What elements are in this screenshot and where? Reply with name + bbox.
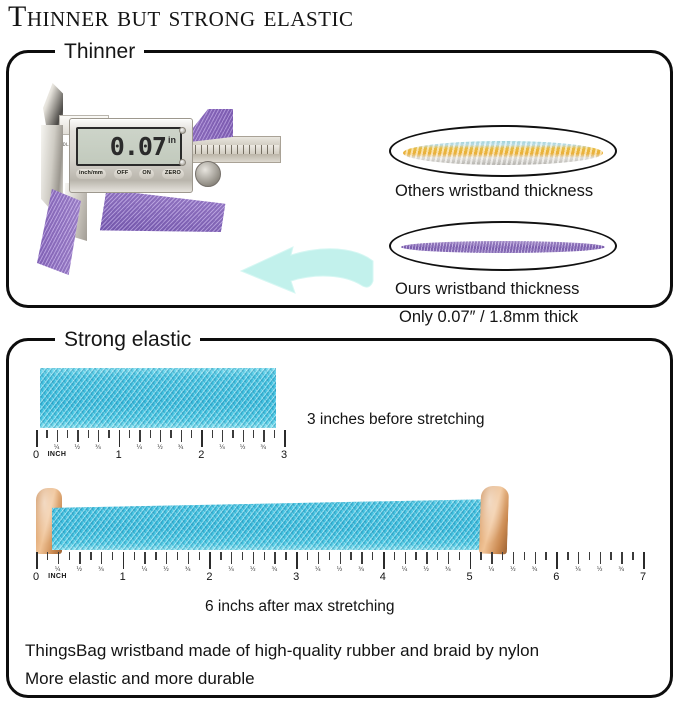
ruler-label-fraction: ½ (250, 566, 256, 573)
ruler-label-fraction: ¾ (532, 566, 538, 573)
ruler-tick-sub (405, 552, 406, 564)
ruler-label-fraction: ½ (240, 444, 246, 451)
ruler-label-fraction: ½ (423, 566, 429, 573)
caliper-button-on[interactable]: ON (139, 169, 154, 179)
ruler-tick-sub (535, 552, 536, 564)
ruler-tick-inch (36, 430, 38, 447)
ruler-tick-sub (98, 430, 99, 442)
ruler-tick-sub (188, 552, 189, 564)
ruler-label-inch: 0 (33, 449, 39, 461)
ruler-tick-sub (101, 552, 102, 564)
ruler-tick-sub (112, 552, 113, 560)
ruler-tick-sub (150, 430, 151, 438)
unstretched-band (40, 368, 276, 428)
ruler-tick-sub (491, 552, 492, 564)
ruler-tick-sub (166, 552, 167, 564)
ruler-label-fraction: ¾ (618, 566, 624, 573)
ruler-tick-sub (232, 430, 233, 438)
caliper-screw-top-icon (179, 127, 186, 134)
ruler-tick-sub (318, 552, 319, 564)
ruler-tick-sub (90, 552, 91, 560)
ruler-tick-sub (513, 552, 514, 564)
ruler-tick-sub (524, 552, 525, 560)
ours-thickness-detail: Only 0.07″ / 1.8mm thick (399, 305, 578, 329)
ruler-short: 0¼½¾1¼½¾2¼½¾3INCH (36, 430, 284, 464)
ruler-tick-sub (79, 552, 80, 564)
ruler-tick-sub (448, 552, 449, 564)
ruler-label-fraction: ¾ (185, 566, 191, 573)
ruler-label-fraction: ½ (74, 444, 80, 451)
ruler-tick-sub (199, 552, 200, 560)
ruler-label-fraction: ½ (163, 566, 169, 573)
ruler-tick-sub (242, 552, 243, 560)
ruler-label-fraction: ¼ (141, 566, 147, 573)
ruler-tick-sub (274, 430, 275, 438)
ruler-label-fraction: ¼ (402, 566, 408, 573)
ruler-tick-sub (191, 430, 192, 438)
ruler-tick-sub (372, 552, 373, 560)
purple-strap-middle (100, 185, 226, 249)
caliper-screw-bottom-icon (179, 159, 186, 166)
ruler-label-fraction: ½ (337, 566, 343, 573)
ruler-tick-sub (263, 430, 264, 442)
ruler-label-inch: 1 (116, 449, 122, 461)
ruler-tick-inch (643, 552, 645, 569)
ruler-tick-sub (129, 430, 130, 438)
ruler-label-inch: 3 (293, 571, 299, 583)
ruler-tick-sub (480, 552, 481, 560)
ruler-label-fraction: ½ (597, 566, 603, 573)
caliper-unit: in (168, 135, 176, 145)
ruler-tick-sub (220, 552, 221, 560)
ruler-tick-sub (567, 552, 568, 560)
ruler-tick-sub (177, 552, 178, 560)
ruler-tick-sub (621, 552, 622, 564)
ruler-label-inch: 0 (33, 571, 39, 583)
ruler-tick-sub (578, 552, 579, 564)
ruler-label-fraction: ¼ (54, 444, 60, 451)
panel-thinner: Thinner DL505/35 0.07 in inch/mm OFF ON … (6, 50, 673, 308)
ruler-tick-sub (340, 552, 341, 564)
ruler-label-inch: 2 (198, 449, 204, 461)
ruler-label-inch: 5 (467, 571, 473, 583)
ruler-tick-sub (545, 552, 546, 560)
ruler-label-inch: 4 (380, 571, 386, 583)
caliper-button-inchmm[interactable]: inch/mm (76, 169, 106, 179)
ruler-tick-sub (222, 430, 223, 442)
panel-strong-legend: Strong elastic (55, 326, 200, 354)
ruler-tick-inch (119, 430, 121, 447)
purple-strap-bottom (37, 189, 81, 275)
ruler-label-fraction: ¾ (95, 444, 101, 451)
ours-thickness-caption: Ours wristband thickness (395, 277, 579, 301)
ruler-tick-sub (329, 552, 330, 560)
ruler-tick-sub (77, 430, 78, 442)
ruler-tick-sub (632, 552, 633, 560)
ruler-long: 0¼½¾1¼½¾2¼½¾3¼½¾4¼½¾5¼½¾6¼½¾7INCH (36, 552, 644, 586)
caliper-reading: 0.07 (110, 134, 166, 159)
ruler-tick-inch (296, 552, 298, 569)
ruler-tick-sub (502, 552, 503, 560)
ruler-tick-sub (243, 430, 244, 442)
ruler-tick-inch (383, 552, 385, 569)
ruler-tick-sub (69, 552, 70, 560)
ruler-label-fraction: ¼ (575, 566, 581, 573)
caliper-button-zero[interactable]: ZERO (162, 169, 184, 179)
caliper-button-off[interactable]: OFF (114, 169, 132, 179)
caliper-display: 0.07 in (76, 127, 182, 166)
ours-band-cross-section (401, 241, 605, 253)
caliper-button-row: inch/mm OFF ON ZERO (76, 168, 184, 180)
ruler-label-inch: 3 (281, 449, 287, 461)
ruler-tick-sub (610, 552, 611, 560)
left-arrow-icon (205, 245, 375, 311)
ruler-tick-sub (47, 552, 48, 560)
ruler-label-fraction: ¾ (178, 444, 184, 451)
ruler-tick-sub (155, 552, 156, 560)
ruler-label-fraction: ¼ (219, 444, 225, 451)
footer-line-2: More elastic and more durable (25, 668, 255, 690)
ruler-tick-sub (67, 430, 68, 438)
ruler-label-fraction: ¾ (445, 566, 451, 573)
ruler-tick-sub (459, 552, 460, 560)
ruler-tick-sub (88, 430, 89, 438)
ruler-label-inch: 1 (120, 571, 126, 583)
footer-line-1: ThingsBag wristband made of high-quality… (25, 640, 539, 662)
ruler-tick-sub (144, 552, 145, 564)
ruler-unit-word: INCH (48, 451, 67, 458)
ruler-tick-sub (415, 552, 416, 560)
ruler-label-fraction: ¾ (358, 566, 364, 573)
ruler-tick-sub (134, 552, 135, 560)
ruler-tick-inch (36, 552, 38, 569)
ruler-tick-sub (426, 552, 427, 564)
ruler-tick-sub (350, 552, 351, 560)
ruler-tick-sub (170, 430, 171, 438)
caliper-thumb-wheel (195, 161, 221, 187)
ruler-unit-word: INCH (48, 573, 67, 580)
ruler-label-fraction: ¾ (260, 444, 266, 451)
ruler-label-inch: 2 (206, 571, 212, 583)
ruler-tick-sub (139, 430, 140, 442)
ruler-tick-sub (285, 552, 286, 560)
after-stretch-label: 6 inchs after max stretching (205, 596, 395, 618)
ruler-label-fraction: ½ (157, 444, 163, 451)
ruler-tick-inch (209, 552, 211, 569)
others-thickness-ellipse (389, 125, 617, 177)
ruler-tick-inch (201, 430, 203, 447)
ruler-tick-sub (46, 430, 47, 438)
panel-thinner-legend: Thinner (55, 38, 144, 66)
finger-right (479, 486, 509, 555)
ruler-tick-sub (589, 552, 590, 560)
ruler-tick-sub (57, 430, 58, 442)
ruler-tick-inch (123, 552, 125, 569)
ruler-label-fraction: ¼ (488, 566, 494, 573)
ruler-tick-sub (361, 552, 362, 564)
ruler-tick-sub (274, 552, 275, 564)
ruler-tick-sub (181, 430, 182, 442)
ruler-label-fraction: ¾ (98, 566, 104, 573)
others-thickness-caption: Others wristband thickness (395, 179, 593, 203)
ruler-tick-sub (58, 552, 59, 564)
others-band-cross-section (403, 141, 603, 165)
ruler-label-fraction: ½ (510, 566, 516, 573)
ruler-tick-sub (253, 430, 254, 438)
ruler-label-fraction: ¼ (315, 566, 321, 573)
ruler-tick-sub (264, 552, 265, 560)
ruler-tick-sub (160, 430, 161, 442)
ruler-tick-sub (437, 552, 438, 560)
ruler-label-fraction: ½ (76, 566, 82, 573)
ruler-label-fraction: ¼ (228, 566, 234, 573)
ruler-label-fraction: ¼ (136, 444, 142, 451)
ruler-tick-inch (284, 430, 286, 447)
ruler-tick-inch (556, 552, 558, 569)
ours-thickness-ellipse (389, 221, 617, 271)
ruler-tick-inch (470, 552, 472, 569)
ruler-label-inch: 7 (640, 571, 646, 583)
before-stretch-label: 3 inches before stretching (307, 409, 485, 431)
page-title: Thinner but strong elastic (8, 0, 354, 36)
ruler-label-inch: 6 (553, 571, 559, 583)
ruler-label-fraction: ¼ (55, 566, 61, 573)
ruler-tick-sub (212, 430, 213, 438)
ruler-tick-sub (253, 552, 254, 564)
ruler-tick-sub (394, 552, 395, 560)
ruler-tick-sub (231, 552, 232, 564)
ruler-tick-sub (307, 552, 308, 560)
ruler-label-fraction: ¾ (272, 566, 278, 573)
ruler-tick-sub (108, 430, 109, 438)
ruler-tick-sub (600, 552, 601, 564)
